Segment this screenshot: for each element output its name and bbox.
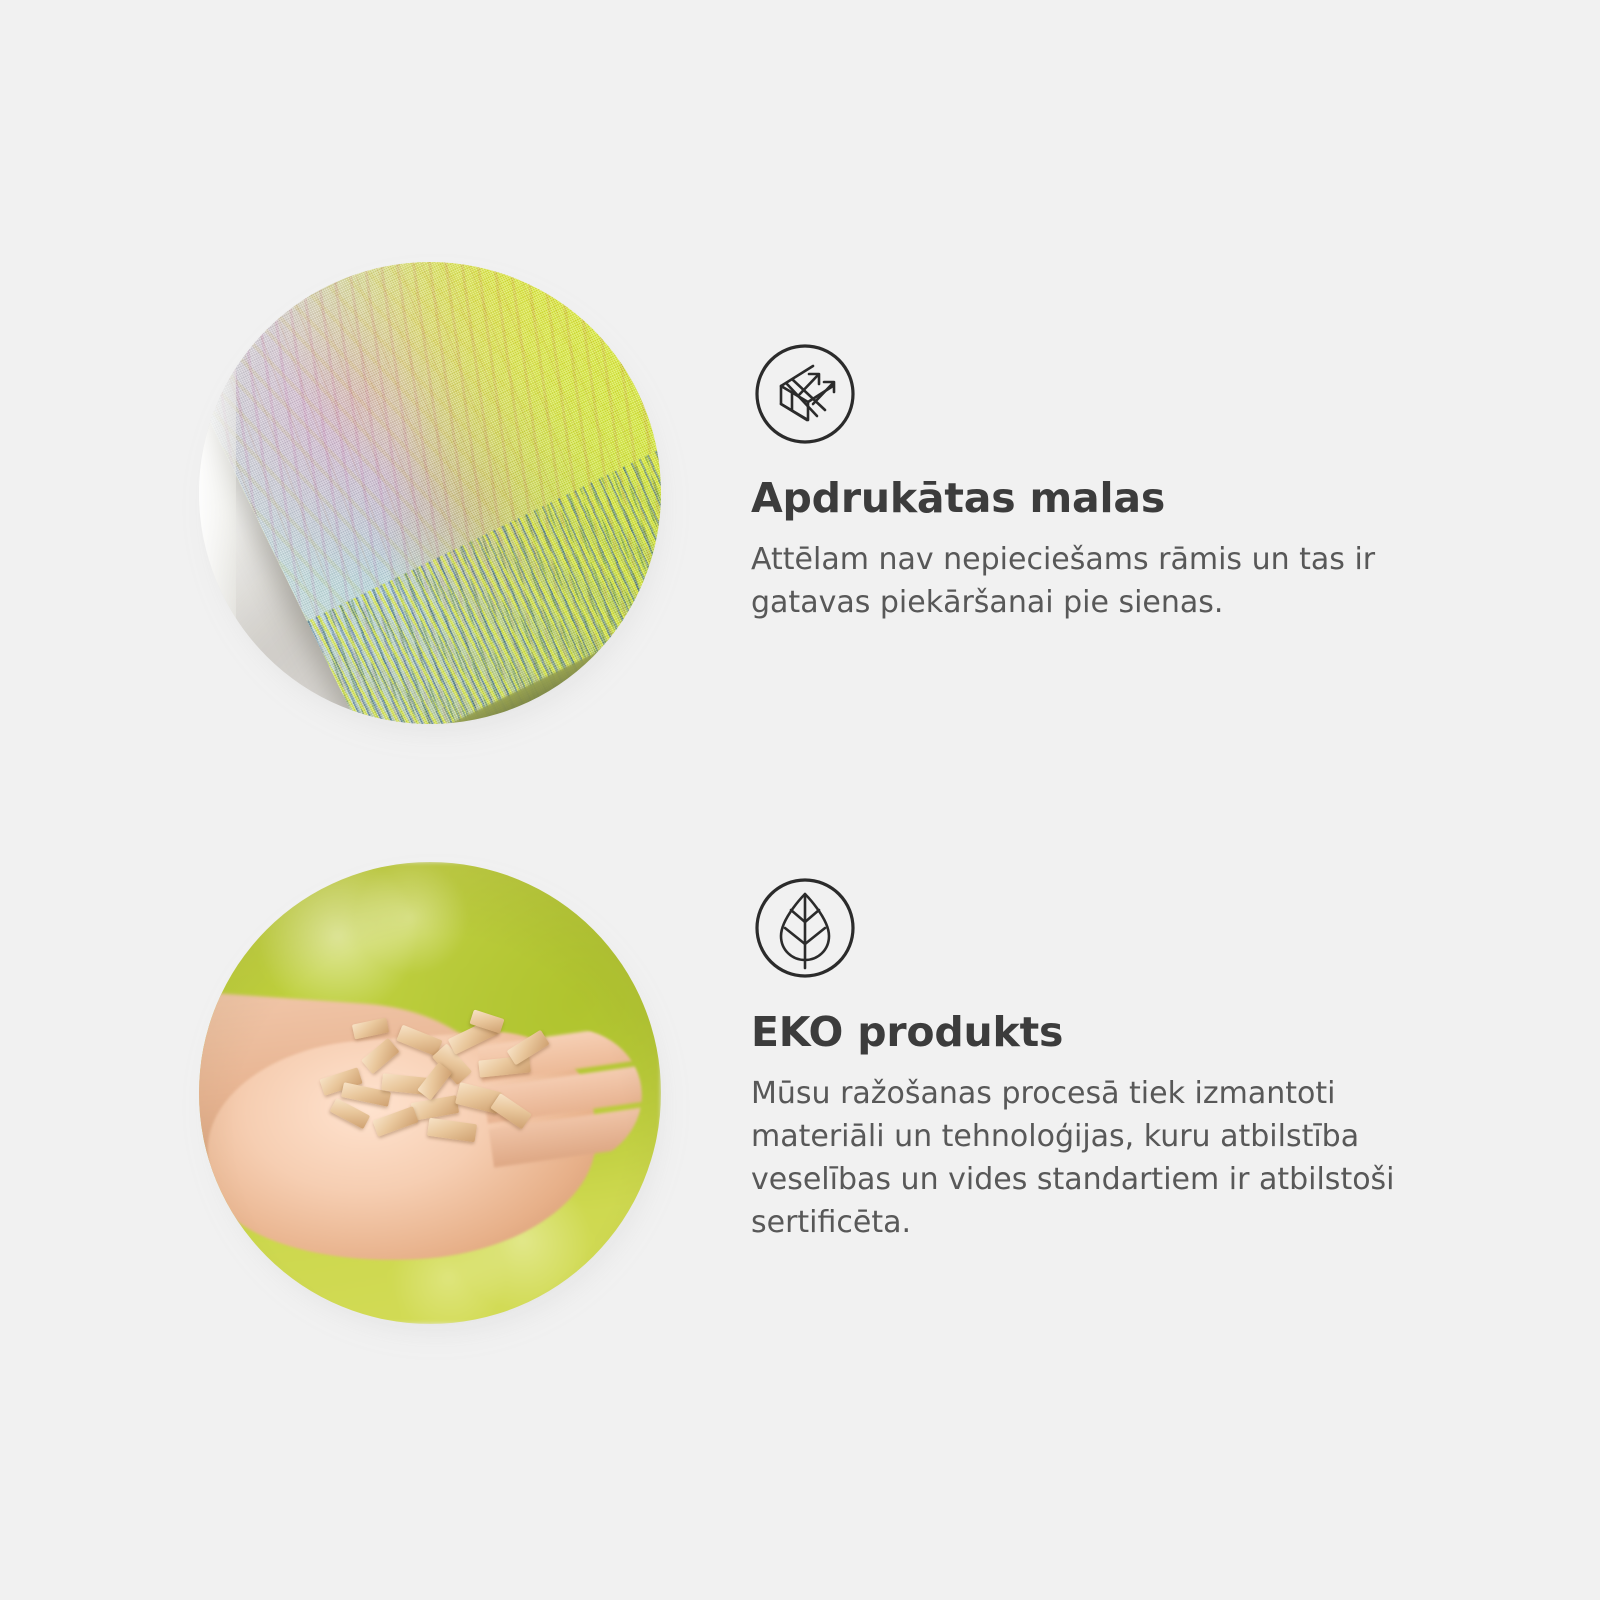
leaf-icon — [751, 874, 859, 982]
eco-vignette — [199, 862, 661, 1324]
feature-1-text-column: Apdrukātas malas Attēlam nav nepieciešam… — [751, 240, 1491, 624]
feature-description: Mūsu ražošanas procesā tiek izmantoti ma… — [751, 1072, 1469, 1244]
feature-description: Attēlam nav nepieciešams rāmis un tas ir… — [751, 538, 1469, 624]
feature-title: Apdrukātas malas — [751, 474, 1491, 522]
feature-title: EKO produkts — [751, 1008, 1491, 1056]
printed-edges-icon — [751, 340, 859, 448]
photo-circle-mask — [199, 262, 661, 724]
feature-2-text-column: EKO produkts Mūsu ražošanas procesā tiek… — [751, 840, 1491, 1244]
canvas-scene — [199, 262, 661, 724]
eco-scene — [199, 862, 661, 1324]
wood-chips-hands-photo — [199, 862, 661, 1324]
feature-printed-edges: Apdrukātas malas Attēlam nav nepieciešam… — [0, 240, 1600, 760]
canvas-corner-photo — [199, 262, 661, 724]
photo-circle-mask — [199, 862, 661, 1324]
canvas-white-side — [199, 262, 236, 724]
feature-eco-product: EKO produkts Mūsu ražošanas procesā tiek… — [0, 840, 1600, 1360]
